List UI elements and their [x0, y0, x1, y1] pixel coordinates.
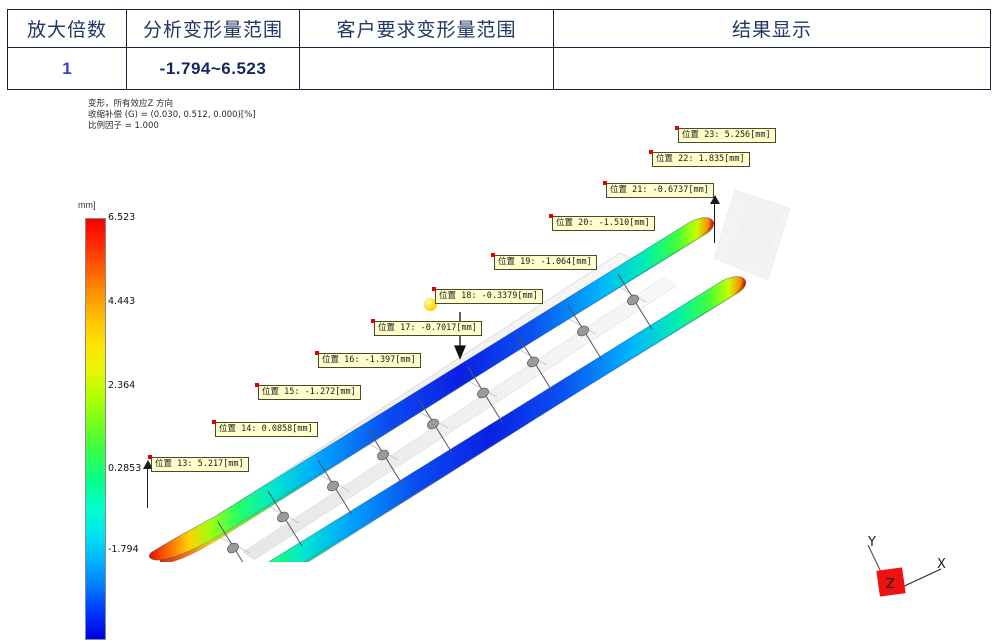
simulation-viewport[interactable]: 变形，所有效应Z 方向 收缩补偿 (G) = (0.030, 0.512, 0.…: [0, 90, 998, 562]
header-analysis-range: 分析变形量范围: [127, 10, 300, 48]
y-axis-label: Y: [868, 535, 876, 550]
result-summary-table: 放大倍数 分析变形量范围 客户要求变形量范围 结果显示 1 -1.794~6.5…: [7, 9, 991, 90]
callout-position-18[interactable]: 位置 18: -0.3379[mm]: [435, 289, 543, 304]
callout-position-15[interactable]: 位置 15: -1.272[mm]: [258, 385, 361, 400]
cell-magnification[interactable]: 1: [8, 48, 127, 90]
header-result-display: 结果显示: [554, 10, 991, 48]
header-magnification: 放大倍数: [8, 10, 127, 48]
x-axis-label: X: [937, 557, 946, 572]
cell-analysis-range[interactable]: -1.794~6.523: [127, 48, 300, 90]
callout-position-14[interactable]: 位置 14: 0.0858[mm]: [215, 422, 318, 437]
header-customer-range: 客户要求变形量范围: [300, 10, 554, 48]
load-arrow-right: [709, 195, 720, 235]
callout-position-20[interactable]: 位置 20: -1.510[mm]: [552, 216, 655, 231]
cell-customer-range[interactable]: [300, 48, 554, 90]
cell-result-display[interactable]: [554, 48, 991, 90]
callout-position-23[interactable]: 位置 23: 5.256[mm]: [678, 128, 776, 143]
reference-geometry-ghost: [198, 190, 790, 560]
table-header-row: 放大倍数 分析变形量范围 客户要求变形量范围 结果显示: [8, 10, 991, 48]
z-axis-label: Z: [886, 577, 895, 592]
callout-position-17[interactable]: 位置 17: -0.7017[mm]: [374, 321, 482, 336]
table-data-row: 1 -1.794~6.523: [8, 48, 991, 90]
callout-position-16[interactable]: 位置 16: -1.397[mm]: [318, 353, 421, 368]
callout-position-21[interactable]: 位置 21: -0.6737[mm]: [606, 183, 714, 198]
analysis-range-value: -1.794~6.523: [160, 59, 267, 78]
callout-position-19[interactable]: 位置 19: -1.064[mm]: [494, 255, 597, 270]
callout-position-13[interactable]: 位置 13: 5.217[mm]: [151, 457, 249, 472]
magnification-value: 1: [62, 59, 71, 78]
axis-triad[interactable]: Y X Z: [838, 533, 958, 628]
beam-upper: [149, 218, 714, 562]
callout-position-22[interactable]: 位置 22: 1.835[mm]: [652, 152, 750, 167]
